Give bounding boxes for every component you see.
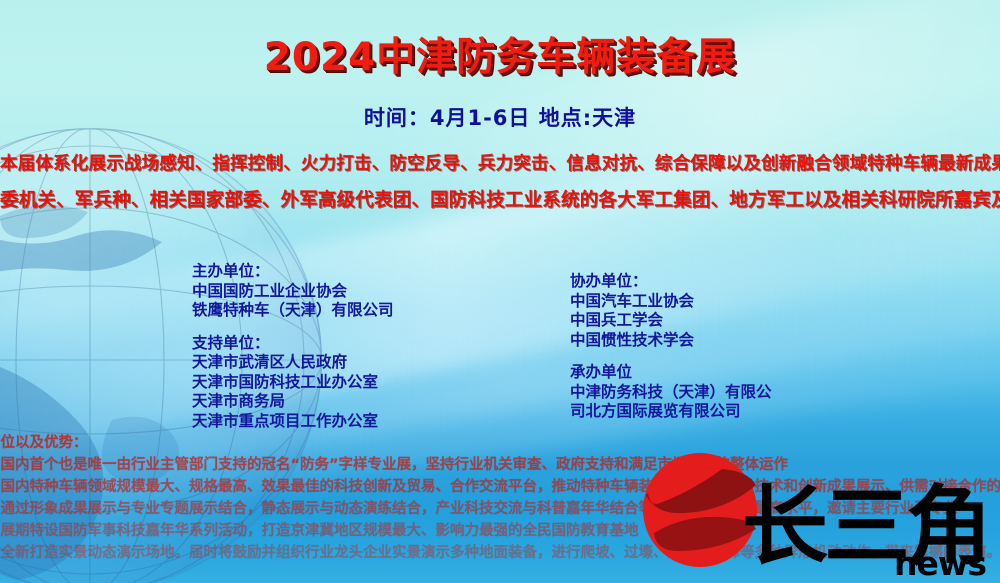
organizer-entry: 中国惯性技术学会 [570, 331, 772, 351]
positioning-advantages-block: 定位以及优势： 、国内首个也是唯一由行业主管部门支持的冠名“防务”字样专业展，坚… [0, 432, 1000, 564]
highlight-line-1: 本届体系化展示战场感知、指挥控制、火力打击、防空反导、兵力突击、信息对抗、综合保… [0, 150, 1000, 175]
organizer-entry: 天津市国防科技工业办公室 [192, 373, 394, 393]
positioning-line: 、国内首个也是唯一由行业主管部门支持的冠名“防务”字样专业展，坚持行业机关审查、… [0, 454, 1000, 476]
positioning-line: 、国内特种车辆领域规模最大、规格最高、效果最佳的科技创新及贸易、合作交流平台，推… [0, 476, 1000, 498]
poster-title: 2024中津防务车辆装备展 [0, 26, 1000, 82]
organizer-column-left: 主办单位： 中国国防工业企业协会 铁鹰特种车（天津）有限公司 支持单位： 天津市… [192, 262, 394, 431]
background-light-streak-upper [0, 76, 1000, 471]
organizer-spacer [192, 321, 394, 334]
positioning-heading: 定位以及优势： [0, 432, 1000, 454]
positioning-line: 、展期特设国防军事科技嘉年华系列活动，打造京津冀地区规模最大、影响力最强的全民国… [0, 520, 1000, 542]
organizer-heading-support: 支持单位： [192, 334, 394, 354]
organizer-entry: 中国国防工业企业协会 [192, 282, 394, 302]
organizer-entry: 司北方国际展览有限公司 [570, 402, 772, 422]
poster-canvas: 2024中津防务车辆装备展 时间：4月1-6日 地点:天津 本届体系化展示战场感… [0, 0, 1000, 583]
organizer-entry: 天津市武清区人民政府 [192, 353, 394, 373]
highlight-line-2: 委机关、军兵种、相关国家部委、外军高级代表团、国防科技工业系统的各大军工集团、地… [0, 186, 1000, 212]
organizer-entry: 中津防务科技（天津）有限公 [570, 383, 772, 403]
organizer-heading-coorganizer: 协办单位： [570, 272, 772, 292]
organizer-heading-undertaker: 承办单位 [570, 363, 772, 383]
organizer-entry: 天津市商务局 [192, 392, 394, 412]
organizer-entry: 天津市重点项目工作办公室 [192, 412, 394, 432]
poster-subtitle-datetime-venue: 时间：4月1-6日 地点:天津 [0, 102, 1000, 132]
organizer-heading-host: 主办单位： [192, 262, 394, 282]
organizer-entry: 中国汽车工业协会 [570, 292, 772, 312]
positioning-line: 、全新打造实景动态演示场地。届时将鼓励并组织行业龙头企业实景演示多种地面装备，进… [0, 542, 1000, 564]
organizer-column-right: 协办单位： 中国汽车工业协会 中国兵工学会 中国惯性技术学会 承办单位 中津防务… [570, 272, 772, 422]
organizer-spacer [570, 350, 772, 363]
organizer-entry: 中国兵工学会 [570, 311, 772, 331]
positioning-line: 、通过形象成果展示与专业专题展示结合，静态展示与动态演练结合，产业科技交流与科普… [0, 498, 1000, 520]
organizer-entry: 铁鹰特种车（天津）有限公司 [192, 301, 394, 321]
